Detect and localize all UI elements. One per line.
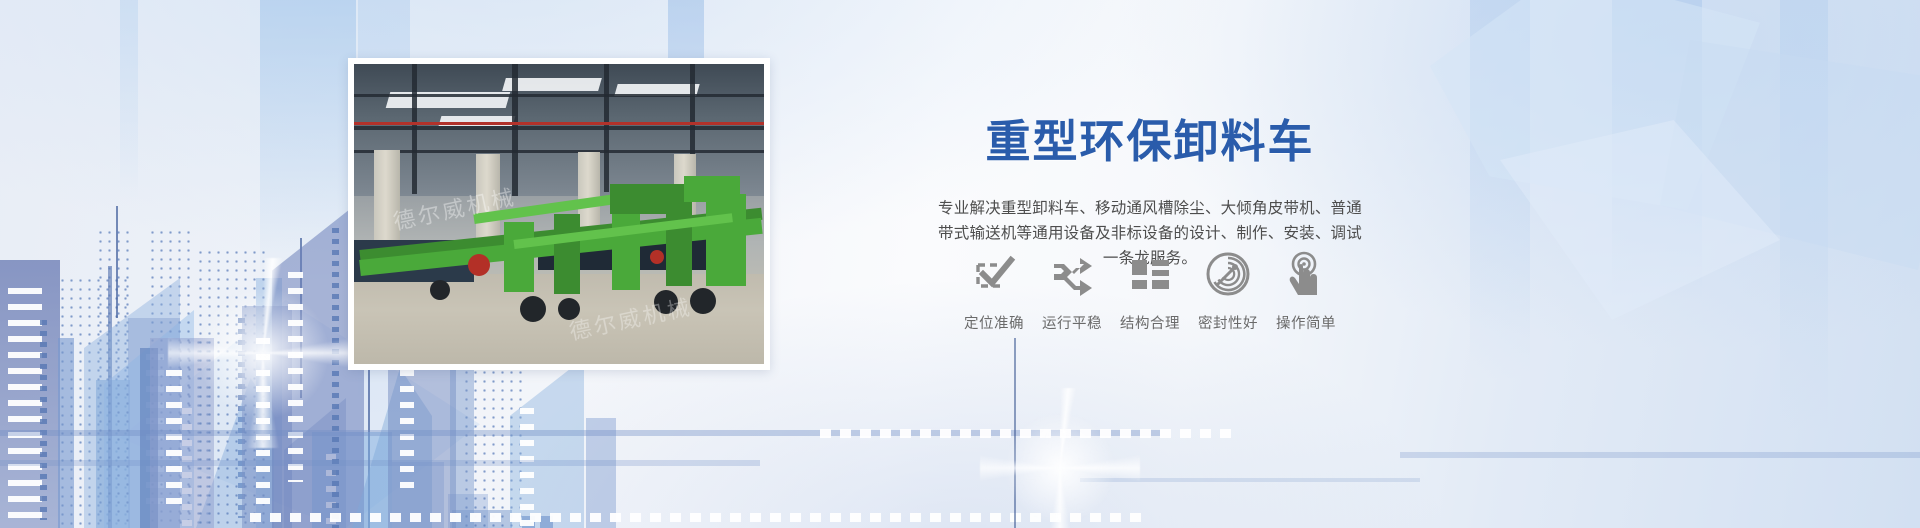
product-photo-card: 德尔威机械 德尔威机械 xyxy=(348,58,770,370)
feature-item-easy-operation[interactable]: 操作简单 xyxy=(1267,248,1345,333)
feature-list: 定位准确 运行平稳 xyxy=(800,248,1500,333)
banner-content: 重型环保卸料车 专业解决重型卸料车、移动通风槽除尘、大倾角皮带机、普通带式输送机… xyxy=(800,0,1500,528)
shuffle-arrows-icon xyxy=(1046,248,1098,300)
feature-label: 密封性好 xyxy=(1198,312,1258,333)
feature-label: 运行平稳 xyxy=(1042,312,1102,333)
feature-label: 操作简单 xyxy=(1276,312,1336,333)
feature-item-positioning[interactable]: 定位准确 xyxy=(955,248,1033,333)
feature-label: 定位准确 xyxy=(964,312,1024,333)
feature-item-smooth-running[interactable]: 运行平稳 xyxy=(1033,248,1111,333)
feature-item-structure[interactable]: 结构合理 xyxy=(1111,248,1189,333)
page-title: 重型环保卸料车 xyxy=(800,0,1500,170)
seal-spiral-icon xyxy=(1202,248,1254,300)
layout-blocks-icon xyxy=(1124,248,1176,300)
product-photo: 德尔威机械 德尔威机械 xyxy=(354,64,764,364)
feature-label: 结构合理 xyxy=(1120,312,1180,333)
hero-banner: 德尔威机械 德尔威机械 重型环保卸料车 专业解决重型卸料车、移动通风槽除尘、大倾… xyxy=(0,0,1920,528)
tap-hand-icon xyxy=(1280,248,1332,300)
checkbox-check-icon xyxy=(968,248,1020,300)
feature-item-sealing[interactable]: 密封性好 xyxy=(1189,248,1267,333)
